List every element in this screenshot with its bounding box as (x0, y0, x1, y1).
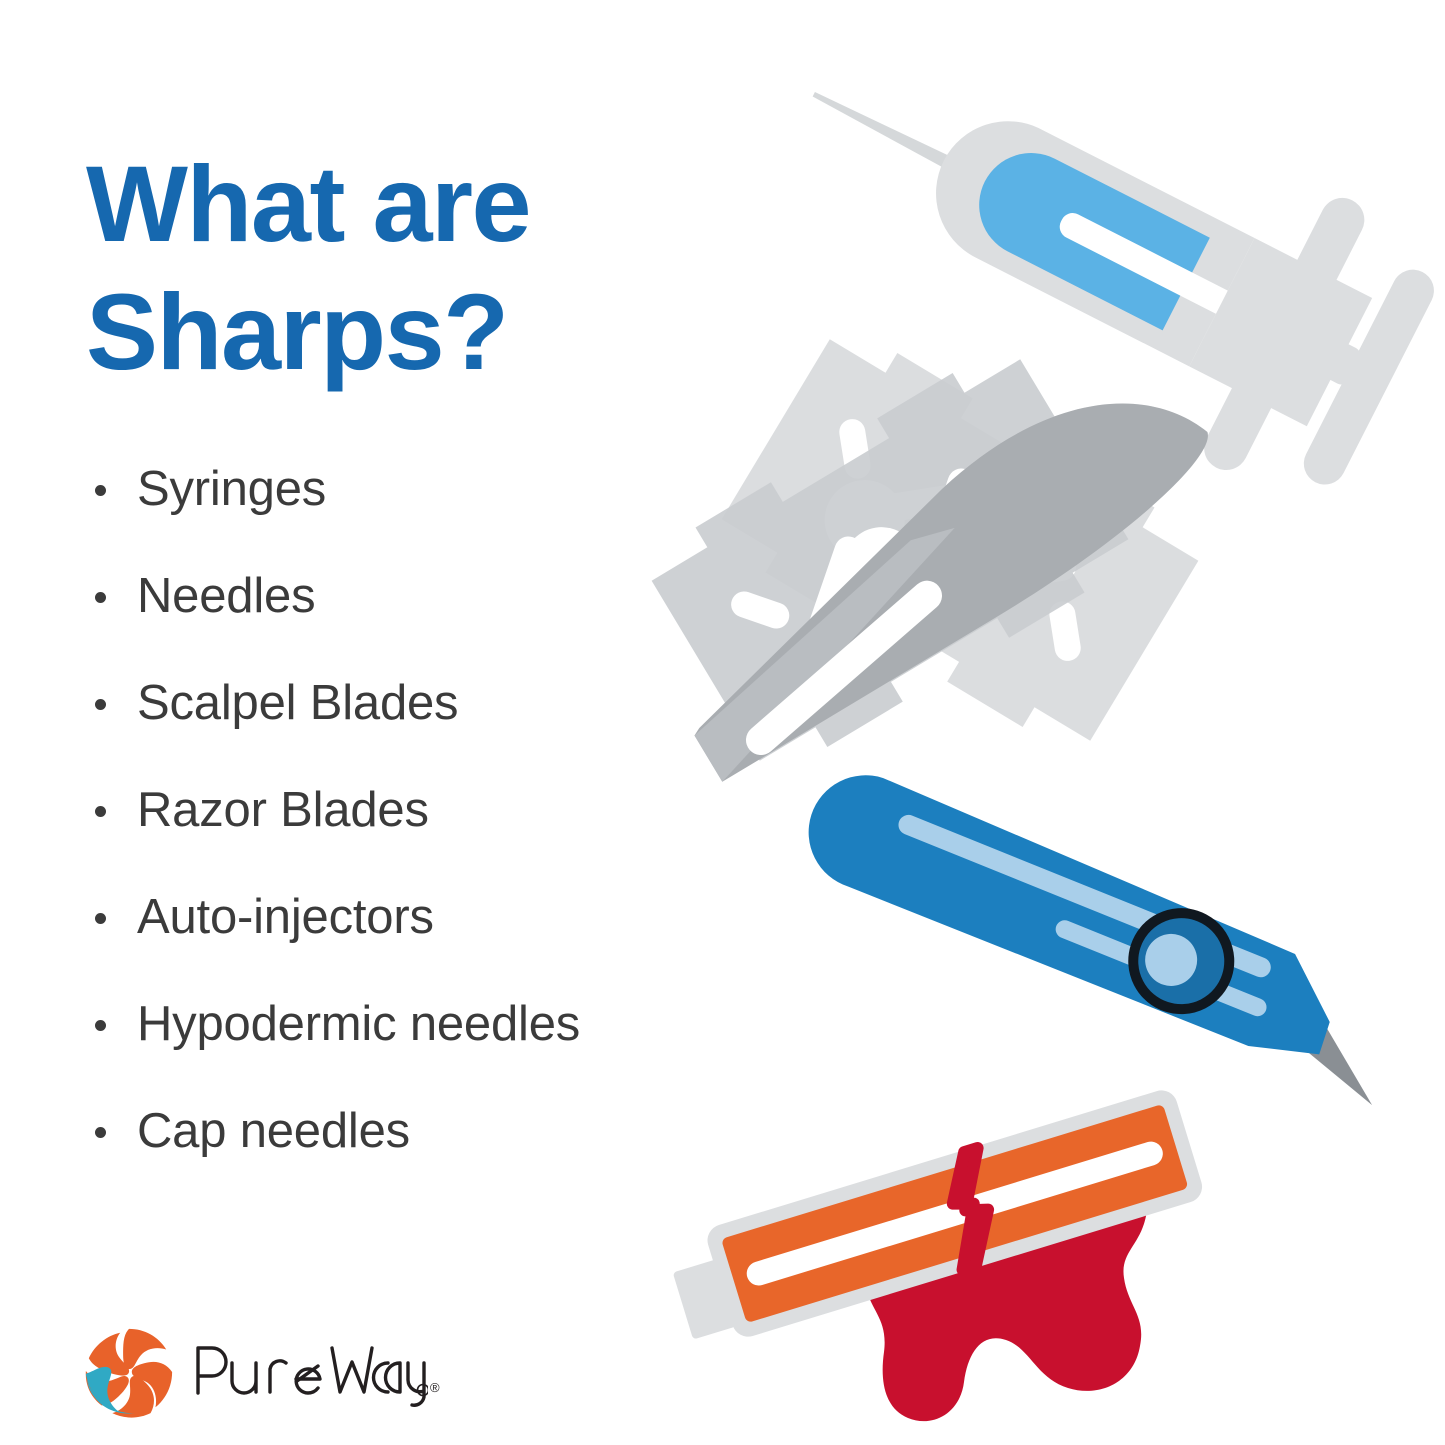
list-item: Razor Blades (86, 776, 806, 883)
syringe-plunger-rod (1056, 209, 1335, 368)
page-title-line-2: Sharps? (86, 268, 686, 395)
page-title: What are Sharps? (86, 140, 686, 395)
bullet-dot-icon (95, 485, 106, 496)
syringe-barrel (911, 96, 1254, 366)
list-item: Needles (86, 562, 806, 669)
razor-blade-back-slot-cap-left (837, 417, 872, 480)
pureway-logo[interactable]: ® (80, 1318, 440, 1426)
syringe-hub (938, 134, 1033, 230)
razor-blade-back-slot-cap-right (1048, 599, 1083, 662)
list-item-label: Syringes (137, 462, 326, 516)
razor-blade-front-slot-circle (829, 513, 933, 617)
list-item-label: Auto-injectors (137, 890, 434, 944)
razor-blade-front-slot-bar-right (914, 465, 980, 588)
lancet-crack-bolt (930, 1148, 1011, 1270)
pureway-swirl-icon (80, 1323, 178, 1421)
razor-blade-back-slot (810, 465, 920, 575)
razor-blade-back-slot-circle (899, 483, 1003, 587)
box-cutter-body (785, 760, 1359, 1067)
lancet-window-stripe (744, 1139, 1166, 1289)
bullet-dot-icon (95, 1020, 106, 1031)
syringe-thumb-rest (1297, 262, 1442, 491)
scalpel-blade-edge-highlight (938, 349, 1207, 564)
syringe-shaft (1189, 238, 1372, 426)
razor-blade-back-slot-bar-right (955, 551, 1078, 597)
syringe-needle (811, 88, 962, 174)
syringe-fluid (961, 135, 1210, 330)
list-item-label: Needles (137, 569, 315, 623)
razor-blade-front-slot-bar-left (801, 533, 867, 656)
box-cutter-illustration (780, 760, 1422, 1105)
bullet-dot-icon (95, 699, 106, 710)
bullet-dot-icon (95, 592, 106, 603)
box-cutter-blade-tip (1300, 1023, 1391, 1105)
syringe-finger-flange (1197, 190, 1372, 477)
sharps-infographic-poster: What are Sharps? Syringes Needles Scalpe… (0, 0, 1445, 1445)
list-item-label: Hypodermic needles (137, 997, 580, 1051)
lancet-cap (673, 1256, 747, 1339)
page-title-line-1: What are (86, 140, 686, 267)
list-item: Auto-injectors (86, 883, 806, 990)
box-cutter-highlight-stripe (895, 812, 1273, 980)
syringe-illustration (746, 0, 1445, 520)
box-cutter-slider-button (1138, 927, 1204, 993)
box-cutter-highlight-stripe-lower (1053, 918, 1269, 1019)
bullet-dot-icon (95, 1127, 106, 1138)
registered-trademark-mark: ® (430, 1380, 440, 1395)
box-cutter-slider-ring (1121, 901, 1242, 1022)
list-item: Scalpel Blades (86, 669, 806, 776)
list-item: Cap needles (86, 1097, 806, 1204)
bullet-dot-icon (95, 806, 106, 817)
list-item-label: Cap needles (137, 1104, 410, 1158)
list-item-label: Razor Blades (137, 783, 429, 837)
list-item-label: Scalpel Blades (137, 676, 458, 730)
pureway-wordmark: ® (192, 1335, 440, 1409)
razor-blade-front-slot-cap-right (987, 488, 1052, 532)
pureway-wordmark-glyphs (192, 1335, 428, 1409)
bullet-dot-icon (95, 913, 106, 924)
razor-blade-back-slot-bar-left (842, 483, 965, 529)
blood-pool-shape (855, 1170, 1147, 1421)
syringe-plunger-stem (1291, 324, 1363, 387)
list-item: Syringes (86, 455, 806, 562)
sharps-list: Syringes Needles Scalpel Blades Razor Bl… (86, 455, 806, 1204)
list-item: Hypodermic needles (86, 990, 806, 1097)
